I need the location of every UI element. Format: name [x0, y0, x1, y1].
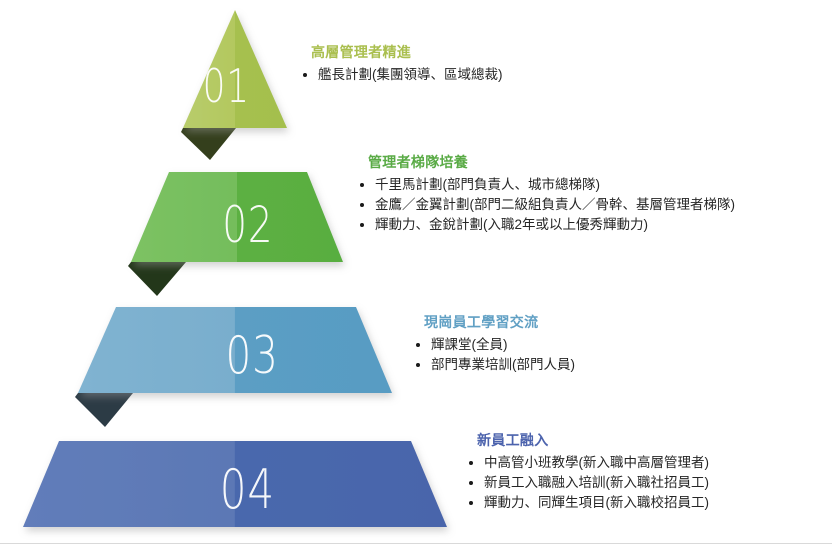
- bullet-dot-icon: [360, 203, 364, 207]
- bullet-dot-icon: [416, 363, 420, 367]
- list-item: 輝課堂(全員): [412, 335, 575, 355]
- bullet-dot-icon: [469, 461, 473, 465]
- list-item: 輝動力、同輝生項目(新入職校招員工): [465, 493, 709, 513]
- level-2-heading: 管理者梯隊培養: [368, 152, 735, 172]
- level-2-bullet-list: 千里馬計劃(部門負責人、城市總梯隊) 金鷹／金翼計劃(部門二級組負責人／骨幹、基…: [356, 175, 735, 235]
- level-4-bullet-list: 中高管小班教學(新入職中高層管理者) 新員工入職融入培訓(新入職社招員工) 輝動…: [465, 453, 709, 513]
- list-item-label: 新員工入職融入培訓(新入職社招員工): [484, 475, 709, 490]
- level-2-number: 02: [222, 200, 273, 250]
- list-item: 千里馬計劃(部門負責人、城市總梯隊): [356, 175, 735, 195]
- level-4-text-block: 新員工融入 中高管小班教學(新入職中高層管理者) 新員工入職融入培訓(新入職社招…: [477, 430, 709, 513]
- level-3-text-block: 現崗員工學習交流 輝課堂(全員) 部門專業培訓(部門人員): [424, 312, 575, 375]
- bullet-dot-icon: [360, 223, 364, 227]
- list-item-label: 輝動力、金銳計劃(入職2年或以上優秀輝動力): [375, 217, 648, 232]
- level-4-number: 04: [220, 463, 275, 517]
- list-item-label: 輝動力、同輝生項目(新入職校招員工): [484, 495, 709, 510]
- level-3-fold: [75, 393, 133, 427]
- level-1-number: 01: [203, 63, 250, 109]
- level-4-heading: 新員工融入: [477, 430, 709, 450]
- list-item: 部門專業培訓(部門人員): [412, 355, 575, 375]
- list-item-label: 輝課堂(全員): [431, 337, 508, 352]
- level-1-text-block: 高層管理者精進 艦長計劃(集團領導、區域總裁): [311, 42, 503, 85]
- level-2-text-block: 管理者梯隊培養 千里馬計劃(部門負責人、城市總梯隊) 金鷹／金翼計劃(部門二級組…: [368, 152, 735, 235]
- bullet-dot-icon: [416, 343, 420, 347]
- bullet-dot-icon: [360, 183, 364, 187]
- level-3-bullet-list: 輝課堂(全員) 部門專業培訓(部門人員): [412, 335, 575, 375]
- level-1-bullet-list: 艦長計劃(集團領導、區域總裁): [299, 65, 503, 85]
- list-item-label: 艦長計劃(集團領導、區域總裁): [318, 67, 503, 82]
- list-item: 艦長計劃(集團領導、區域總裁): [299, 65, 503, 85]
- diagram-canvas: 01 02 03 04 高層管理者精進 艦長計劃(集團領導、區域總裁) 管理者梯…: [0, 0, 832, 544]
- list-item-label: 金鷹／金翼計劃(部門二級組負責人／骨幹、基層管理者梯隊): [375, 197, 735, 212]
- list-item: 輝動力、金銳計劃(入職2年或以上優秀輝動力): [356, 215, 735, 235]
- level-3-heading: 現崗員工學習交流: [424, 312, 575, 332]
- list-item-label: 部門專業培訓(部門人員): [431, 357, 575, 372]
- list-item: 金鷹／金翼計劃(部門二級組負責人／骨幹、基層管理者梯隊): [356, 195, 735, 215]
- list-item-label: 中高管小班教學(新入職中高層管理者): [484, 455, 709, 470]
- level-2-fold: [128, 262, 186, 296]
- list-item: 新員工入職融入培訓(新入職社招員工): [465, 473, 709, 493]
- bullet-dot-icon: [469, 481, 473, 485]
- level-3-number: 03: [225, 330, 278, 382]
- bullet-dot-icon: [303, 73, 307, 77]
- list-item: 中高管小班教學(新入職中高層管理者): [465, 453, 709, 473]
- bullet-dot-icon: [469, 501, 473, 505]
- level-1-heading: 高層管理者精進: [311, 42, 503, 62]
- list-item-label: 千里馬計劃(部門負責人、城市總梯隊): [375, 177, 600, 192]
- level-1-fold: [181, 128, 236, 160]
